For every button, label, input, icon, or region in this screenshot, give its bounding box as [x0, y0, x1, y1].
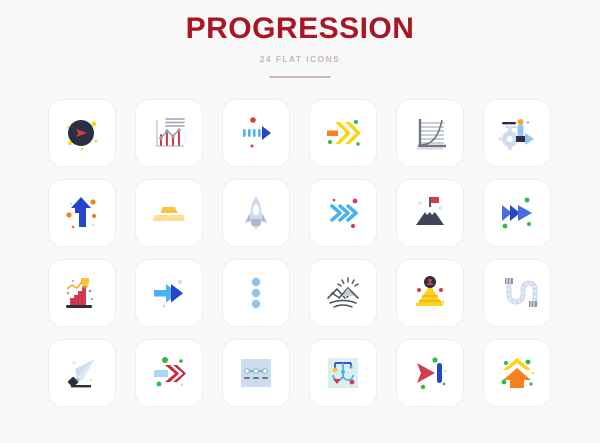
icon-tile-play-stop[interactable]	[396, 339, 464, 407]
icon-tile-blue-up-arrow[interactable]	[48, 179, 116, 247]
pyramid-leader-icon	[408, 271, 452, 315]
page-title: PROGRESSION	[0, 13, 600, 45]
icon-tile-light-chevrons[interactable]	[309, 179, 377, 247]
icon-tile-curve-graph[interactable]	[396, 99, 464, 167]
icon-tile-growth-chart[interactable]	[135, 99, 203, 167]
play-stop-icon	[408, 351, 452, 395]
icon-tile-mountain-sunrise[interactable]	[309, 259, 377, 327]
dashed-arrow-icon	[234, 111, 278, 155]
icon-tile-blue-arrow[interactable]	[135, 259, 203, 327]
gold-stack-icon	[147, 191, 191, 235]
orange-up-arrow-icon	[495, 351, 539, 395]
blue-triple-arrow-icon	[495, 191, 539, 235]
icon-tile-orange-up-arrow[interactable]	[483, 339, 551, 407]
icon-tile-gold-stack[interactable]	[135, 179, 203, 247]
compass-arrow-icon	[60, 111, 104, 155]
rocket-icon	[234, 191, 278, 235]
header: PROGRESSION 24 FLAT ICONS	[0, 0, 600, 78]
yellow-chevron-arrow-icon	[321, 111, 365, 155]
light-chevrons-icon	[321, 191, 365, 235]
title-divider	[269, 76, 331, 78]
icon-tile-three-dots[interactable]	[222, 259, 290, 327]
icon-tile-red-chevron-bar[interactable]	[135, 339, 203, 407]
mountain-flag-icon	[408, 191, 452, 235]
flowchart-card-icon	[321, 351, 365, 395]
icon-tile-yellow-chevron[interactable]	[309, 99, 377, 167]
page-subtitle: 24 FLAT ICONS	[0, 54, 600, 64]
icon-tile-compass-arrow[interactable]	[48, 99, 116, 167]
icon-tile-pyramid-leader[interactable]	[396, 259, 464, 327]
icon-tile-blue-triple-arrow[interactable]	[483, 179, 551, 247]
icon-tile-flowchart-card[interactable]	[309, 339, 377, 407]
gear-person-arrow-icon	[495, 111, 539, 155]
three-dots-icon	[234, 271, 278, 315]
blue-up-arrow-icon	[60, 191, 104, 235]
icon-tile-gear-person[interactable]	[483, 99, 551, 167]
icon-tile-mountain-flag[interactable]	[396, 179, 464, 247]
icon-set-page: PROGRESSION 24 FLAT ICONS	[0, 0, 600, 443]
blue-arrow-icon	[147, 271, 191, 315]
timeline-card-icon	[234, 351, 278, 395]
growth-chart-icon	[147, 111, 191, 155]
trophy-bar-chart-icon	[60, 271, 104, 315]
roadmap-path-icon	[495, 271, 539, 315]
paper-plane-launch-icon	[60, 351, 104, 395]
curve-graph-icon	[408, 111, 452, 155]
icon-grid	[48, 99, 552, 407]
icon-tile-timeline-card[interactable]	[222, 339, 290, 407]
icon-tile-paper-plane[interactable]	[48, 339, 116, 407]
mountain-sunrise-icon	[321, 271, 365, 315]
red-chevron-bar-icon	[147, 351, 191, 395]
icon-tile-trophy-chart[interactable]	[48, 259, 116, 327]
icon-tile-rocket[interactable]	[222, 179, 290, 247]
icon-tile-roadmap-path[interactable]	[483, 259, 551, 327]
icon-tile-dashed-arrow[interactable]	[222, 99, 290, 167]
